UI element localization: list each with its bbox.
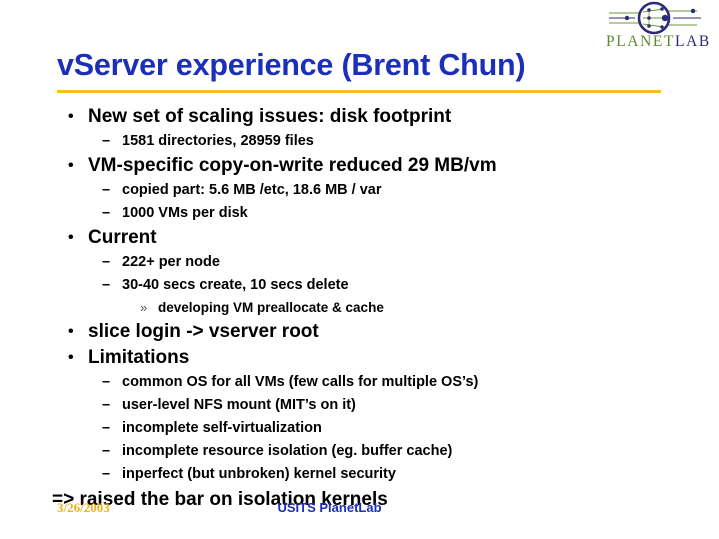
bullet-item-l3: »developing VM preallocate & cache (0, 297, 719, 319)
bullet-item-l2: –incomplete self-virtualization (0, 417, 719, 440)
bullet-text: common OS for all VMs (few calls for mul… (122, 371, 478, 394)
bullet-item-l2: –222+ per node (0, 251, 719, 274)
bullet-text: 222+ per node (122, 251, 220, 274)
bullet-marker: – (102, 202, 110, 225)
bullet-marker: – (102, 394, 110, 417)
bullet-marker: – (102, 440, 110, 463)
bullet-text: 1581 directories, 28959 files (122, 130, 314, 153)
bullet-text: New set of scaling issues: disk footprin… (88, 104, 451, 130)
slide-title: vServer experience (Brent Chun) (57, 46, 667, 84)
bullet-text: inperfect (but unbroken) kernel security (122, 463, 396, 486)
bullet-marker: • (68, 319, 74, 345)
bullet-item-l2: –incomplete resource isolation (eg. buff… (0, 440, 719, 463)
bullet-text: copied part: 5.6 MB /etc, 18.6 MB / var (122, 179, 381, 202)
bullet-text: developing VM preallocate & cache (158, 297, 384, 319)
bullet-item-l2: –30-40 secs create, 10 secs delete (0, 274, 719, 297)
wordmark-lab: LAB (675, 33, 711, 50)
planetlab-globe-icon (605, 1, 719, 35)
bullet-item-l2: –common OS for all VMs (few calls for mu… (0, 371, 719, 394)
bullet-item-l2: –user-level NFS mount (MIT’s on it) (0, 394, 719, 417)
bullet-marker: • (68, 153, 74, 179)
bullet-text: Limitations (88, 345, 189, 371)
bullet-text: incomplete resource isolation (eg. buffe… (122, 440, 452, 463)
bullet-marker: – (102, 251, 110, 274)
title-underline-rule (57, 90, 661, 93)
bullet-text: VM-specific copy-on-write reduced 29 MB/… (88, 153, 497, 179)
bullet-text: 30-40 secs create, 10 secs delete (122, 274, 349, 297)
bullet-item-l2: –1000 VMs per disk (0, 202, 719, 225)
bullet-item-l1: •Current (0, 225, 719, 251)
bullet-item-l1: •VM-specific copy-on-write reduced 29 MB… (0, 153, 719, 179)
bullet-item-l2: –copied part: 5.6 MB /etc, 18.6 MB / var (0, 179, 719, 202)
bullet-text: user-level NFS mount (MIT’s on it) (122, 394, 356, 417)
bullet-marker: – (102, 274, 110, 297)
bullet-marker: • (68, 345, 74, 371)
bullet-text: slice login -> vserver root (88, 319, 319, 345)
bullet-item-l1: •slice login -> vserver root (0, 319, 719, 345)
bullet-item-l2: –inperfect (but unbroken) kernel securit… (0, 463, 719, 486)
bullet-item-l1: •Limitations (0, 345, 719, 371)
slide-canvas: PLANETLAB vServer experience (Brent Chun… (0, 0, 719, 539)
bullet-marker: • (68, 104, 74, 130)
footer-center-label: USITS PlanetLab (0, 500, 719, 515)
bullet-marker: – (102, 417, 110, 440)
bullet-list: •New set of scaling issues: disk footpri… (0, 104, 719, 513)
bullet-text: 1000 VMs per disk (122, 202, 248, 225)
bullet-item-l1: •New set of scaling issues: disk footpri… (0, 104, 719, 130)
bullet-marker: – (102, 130, 110, 153)
bullet-text: incomplete self-virtualization (122, 417, 322, 440)
bullet-marker: – (102, 463, 110, 486)
bullet-marker: – (102, 179, 110, 202)
bullet-item-l2: –1581 directories, 28959 files (0, 130, 719, 153)
bullet-marker: • (68, 225, 74, 251)
bullet-marker: » (140, 297, 147, 319)
bullet-text: Current (88, 225, 157, 251)
bullet-marker: – (102, 371, 110, 394)
